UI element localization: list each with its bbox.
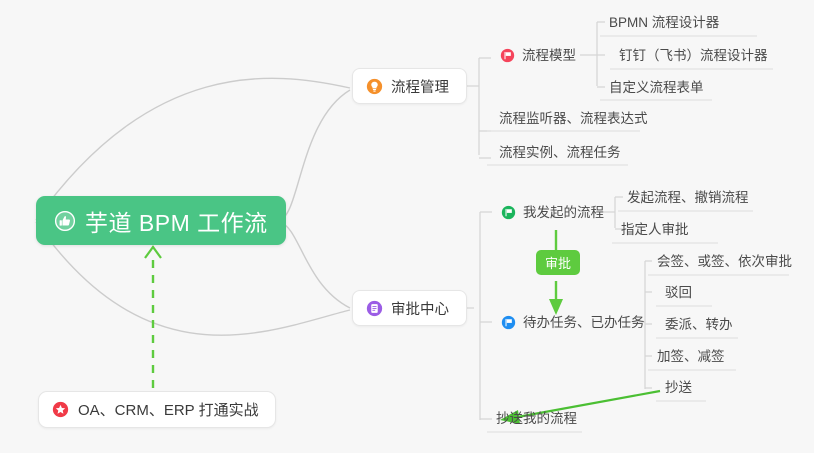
node-custom-process-form[interactable]: 自定义流程表单 — [600, 74, 713, 101]
node-my-initiated-processes[interactable]: 我发起的流程 — [492, 199, 613, 226]
flag-icon-red — [500, 48, 515, 63]
node-label: 自定义流程表单 — [609, 81, 704, 95]
callout-label: OA、CRM、ERP 打通实战 — [78, 399, 259, 420]
node-label: 加签、减签 — [657, 350, 725, 364]
node-process-listener-expression[interactable]: 流程监听器、流程表达式 — [490, 105, 657, 132]
root-label: 芋道 BPM 工作流 — [85, 204, 268, 238]
branch-process-management[interactable]: 流程管理 — [352, 68, 467, 104]
node-label: 抄送 — [665, 381, 692, 395]
node-label: 流程监听器、流程表达式 — [499, 112, 648, 126]
node-cc[interactable]: 抄送 — [656, 374, 701, 401]
node-label: 流程模型 — [522, 49, 576, 63]
node-reject[interactable]: 驳回 — [656, 279, 701, 306]
star-icon — [52, 401, 69, 418]
mindmap-canvas: 芋道 BPM 工作流 流程管理 流程模型 BPMN 流程设计器 钉钉（飞书）流 — [0, 0, 814, 453]
node-cc-to-me-processes[interactable]: 抄送我的流程 — [487, 405, 586, 432]
node-bpmn-designer[interactable]: BPMN 流程设计器 — [600, 9, 728, 36]
node-dingtalk-feishu-designer[interactable]: 钉钉（飞书）流程设计器 — [610, 42, 777, 69]
callout-integration-practice[interactable]: OA、CRM、ERP 打通实战 — [38, 391, 276, 428]
node-process-model[interactable]: 流程模型 — [491, 42, 585, 69]
node-countersign-approval[interactable]: 会签、或签、依次审批 — [648, 248, 801, 275]
approval-tag-label: 审批 — [545, 253, 571, 272]
flag-icon-blue — [501, 315, 516, 330]
edge-root-to-process-management — [280, 90, 350, 220]
node-label: 指定人审批 — [621, 223, 689, 237]
clipboard-icon — [366, 300, 383, 317]
node-label: BPMN 流程设计器 — [609, 16, 719, 30]
node-label: 会签、或签、依次审批 — [657, 255, 792, 269]
arrowhead-callout-to-root — [145, 247, 161, 258]
node-label: 钉钉（飞书）流程设计器 — [619, 49, 768, 63]
node-label: 我发起的流程 — [523, 206, 604, 220]
node-start-cancel-process[interactable]: 发起流程、撤销流程 — [618, 184, 758, 211]
thumbs-up-icon — [54, 210, 76, 232]
branch-label: 流程管理 — [391, 76, 449, 97]
node-label: 委派、转办 — [665, 318, 733, 332]
approval-tag: 审批 — [536, 250, 580, 275]
edge-root-to-approval-center — [280, 222, 350, 308]
branch-approval-center[interactable]: 审批中心 — [352, 290, 467, 326]
node-label: 待办任务、已办任务 — [523, 316, 645, 330]
root-node[interactable]: 芋道 BPM 工作流 — [36, 196, 286, 245]
node-process-instance-task[interactable]: 流程实例、流程任务 — [490, 139, 630, 166]
node-label: 驳回 — [665, 286, 692, 300]
node-label: 发起流程、撤销流程 — [627, 191, 749, 205]
lightbulb-icon — [366, 78, 383, 95]
node-delegate-transfer[interactable]: 委派、转办 — [656, 311, 742, 338]
node-todo-done-tasks[interactable]: 待办任务、已办任务 — [492, 309, 654, 336]
flag-icon-green — [501, 205, 516, 220]
node-assignee-approval[interactable]: 指定人审批 — [612, 216, 698, 243]
node-add-remove-sign[interactable]: 加签、减签 — [648, 343, 734, 370]
node-label: 流程实例、流程任务 — [499, 146, 621, 160]
node-label: 抄送我的流程 — [496, 412, 577, 426]
branch-label: 审批中心 — [391, 298, 449, 319]
